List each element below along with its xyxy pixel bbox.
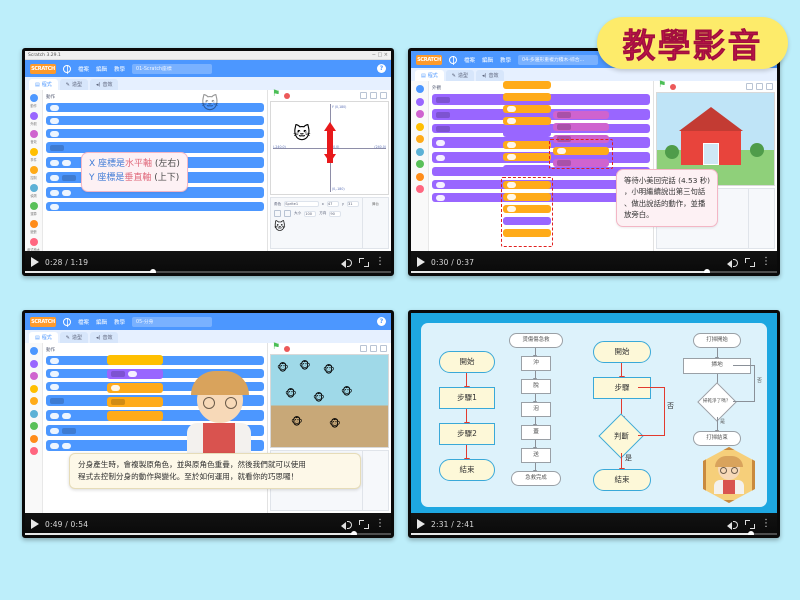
tab-sounds-2[interactable]: ◂) 音效 <box>476 70 504 81</box>
globe-icon-3[interactable] <box>63 318 71 326</box>
fc4-decision-label: 掃乾淨了嗎？ <box>703 400 731 405</box>
editor-body-2: 外觀 <box>411 81 777 251</box>
palette-item-events[interactable]: 事件 <box>25 148 42 162</box>
sprite-dir-label: 方向 <box>319 211 326 216</box>
stop-icon-2[interactable] <box>670 84 676 90</box>
tab-costumes-3[interactable]: ✎ 造型 <box>60 332 88 343</box>
narration-callout: 等待小美回完話 (4.53 秒) ，小明繼續說出第三句話 、做出說話的動作，並播… <box>616 169 718 227</box>
stage-canvas-3[interactable]: 🐵 🐵 🐵 🐵 🐵 🐵 🐵 🐵 <box>270 354 389 448</box>
help-icon[interactable]: ? <box>377 64 386 73</box>
category-dot-variables-2 <box>416 173 424 181</box>
fc1-arrow-3 <box>466 445 467 459</box>
sprite-name-value[interactable]: Sprite1 <box>284 201 319 207</box>
large-stage-icon[interactable] <box>370 92 377 99</box>
green-flag-icon-3[interactable] <box>272 345 280 353</box>
highlight-box-upper <box>549 139 613 169</box>
category-dot-operators-3 <box>30 422 38 430</box>
hide-icon[interactable] <box>284 210 291 217</box>
menu-edit[interactable]: 編輯 <box>96 65 107 73</box>
script-stack-main[interactable] <box>503 81 551 177</box>
caption-line-2: 程式去控制分身的動作與變化。至於如何運用，就看你的巧思囉！ <box>78 471 352 483</box>
fc2-arrow-6 <box>535 463 536 471</box>
help-icon-3[interactable]: ? <box>377 317 386 326</box>
script-block-8[interactable] <box>503 165 551 173</box>
palette-item-myblocks-3[interactable] <box>25 447 42 455</box>
monkey-sprite-6: 🐵 <box>341 387 353 398</box>
progress-knob-4[interactable] <box>748 531 754 537</box>
category-dot-variables <box>30 220 38 228</box>
fullscreen-icon[interactable] <box>359 258 369 267</box>
down-arrow-icon <box>324 154 336 163</box>
scratch-toolbar-3: SCRATCH 檔案 編輯 教學 05-分身 ? <box>25 313 391 330</box>
timecode-1: 0:28 / 1:19 <box>45 258 88 267</box>
roof-shape <box>679 107 743 131</box>
progress-knob-1[interactable] <box>150 269 156 275</box>
play-button-2[interactable] <box>417 257 425 267</box>
category-dot-looks <box>30 112 38 120</box>
fc4-label-no: 否 <box>757 377 762 384</box>
sound-icon-3: ◂) <box>96 335 100 341</box>
timecode-3: 0:49 / 0:54 <box>45 520 88 529</box>
timecode-2: 0:30 / 0:37 <box>431 258 474 267</box>
fc3-decision-label: 判斷 <box>614 432 629 440</box>
fc2-node-start: 燙傷傷急救 <box>509 333 563 348</box>
avatar-vest <box>723 480 735 494</box>
palette-item-operators-2[interactable] <box>411 160 428 168</box>
monkey-sprite-7: 🐵 <box>291 417 303 428</box>
fc2-arrow-1 <box>535 348 536 356</box>
play-button[interactable] <box>31 257 39 267</box>
category-dot-myblocks-3 <box>30 447 38 455</box>
sprite-dir-value[interactable]: 90 <box>329 211 341 217</box>
script3a-looks[interactable] <box>107 369 163 379</box>
script3a-control[interactable] <box>107 383 163 393</box>
palette-label-sensing: 偵測 <box>30 193 36 198</box>
tree-right-icon <box>750 143 764 157</box>
palette-item-looks-3[interactable] <box>25 360 42 368</box>
palette-item-control-3[interactable] <box>25 397 42 405</box>
brush-icon-3: ✎ <box>66 335 70 341</box>
progress-knob-3[interactable] <box>351 531 357 537</box>
monkey-sprite-4: 🐵 <box>285 389 297 400</box>
more-options-icon-4[interactable]: ⋮ <box>761 520 771 528</box>
page-title-badge: 教學影音 <box>597 17 788 69</box>
fullscreen-icon-3[interactable] <box>380 345 387 352</box>
scratch-cat-watermark: 🐱 <box>201 94 219 114</box>
page-title-text: 教學影音 <box>623 19 763 67</box>
fc2-arrow-5 <box>535 440 536 448</box>
palette-item-motion-3[interactable] <box>25 347 42 355</box>
coord-label-origin: (0,0) <box>332 145 340 149</box>
stage-controls-3[interactable] <box>268 343 391 354</box>
more-options-icon-2[interactable]: ⋮ <box>761 258 771 266</box>
script-block-1[interactable] <box>503 81 551 89</box>
tab-costumes[interactable]: ✎ 造型 <box>60 79 88 90</box>
timecode-4: 2:31 / 2:41 <box>431 520 474 529</box>
category-dot-motion <box>30 94 38 102</box>
fc4-arrow-1 <box>717 348 718 358</box>
show-icon[interactable] <box>274 210 281 217</box>
category-dot-sensing-2 <box>416 148 424 156</box>
progress-fill-3 <box>25 533 354 536</box>
category-dot-events <box>30 148 38 156</box>
editor-tabs-3: ▤ 程式 ✎ 造型 ◂) 音效 <box>25 330 391 343</box>
scratch-logo-2[interactable]: SCRATCH <box>416 55 442 65</box>
video-panel-1[interactable]: Scratch 3.29.1 − □ × SCRATCH 檔案 編輯 教學 01… <box>22 48 394 276</box>
monkey-backdrop: 🐵 🐵 🐵 🐵 🐵 🐵 🐵 🐵 <box>271 355 388 447</box>
callout-2-line-1: 等待小美回完話 (4.53 秒) <box>624 175 710 186</box>
category-dot-looks-3 <box>30 360 38 368</box>
sprite-y-label: y <box>342 202 344 206</box>
palette-label-operators: 運算 <box>30 211 36 216</box>
fc3-loop-path <box>638 387 665 436</box>
fc2-arrow-2 <box>535 371 536 379</box>
sprite-name-row[interactable]: 角色 Sprite1 x 47 y 31 <box>274 201 359 207</box>
globe-icon[interactable] <box>63 65 71 73</box>
category-dot-myblocks-2 <box>416 185 424 193</box>
code-icon: ▤ <box>35 82 40 88</box>
palette-item-variables-3[interactable] <box>25 435 42 443</box>
script-block-7[interactable] <box>503 153 551 161</box>
brush-icon-2: ✎ <box>452 73 456 79</box>
stage-selector-label: 舞台 <box>372 202 379 206</box>
fc4-arrow-yes <box>717 417 718 431</box>
editor-tabs: ▤ 程式 ✎ 造型 ◂) 音效 <box>25 77 391 90</box>
menu-edit-3[interactable]: 編輯 <box>96 318 107 326</box>
fc2-node-5: 送 <box>521 448 551 463</box>
script3a-hat[interactable] <box>107 355 163 365</box>
fc2-node-2: 脫 <box>521 379 551 394</box>
scratch-toolbar: SCRATCH 檔案 編輯 教學 01-Scratch座標 ? <box>25 60 391 77</box>
block-category-palette-2[interactable] <box>411 81 429 251</box>
progress-bar-2[interactable] <box>411 271 777 274</box>
palette-label-motion: 動作 <box>30 103 36 108</box>
tab-code[interactable]: ▤ 程式 <box>29 79 58 90</box>
tab-sounds-3[interactable]: ◂) 音效 <box>90 332 118 343</box>
tab-costumes-label: 造型 <box>72 81 82 88</box>
play-button-3[interactable] <box>31 519 39 529</box>
sprite-y-value[interactable]: 31 <box>347 201 359 207</box>
menu-file[interactable]: 檔案 <box>78 65 89 73</box>
player-controls-1[interactable]: 0:28 / 1:19 ⋮ <box>25 251 391 273</box>
category-dot-events-2 <box>416 123 424 131</box>
window-buttons[interactable]: − □ × <box>372 52 388 58</box>
callout-2-line-4: 放旁白。 <box>624 209 710 220</box>
avatar-figure <box>712 456 746 494</box>
scratch-logo[interactable]: SCRATCH <box>30 64 56 74</box>
fc4-node-decision: 掃乾淨了嗎？ <box>697 382 737 422</box>
category-dot-control <box>30 166 38 174</box>
category-dot-motion-3 <box>30 347 38 355</box>
block-category-palette[interactable]: 動作 外觀 音效 事件 控制 <box>25 90 43 251</box>
code-icon-3: ▤ <box>35 335 40 341</box>
monkey-sprite-1: 🐵 <box>277 363 289 374</box>
palette-item-motion-2[interactable] <box>411 85 428 93</box>
category-dot-sensing <box>30 184 38 192</box>
palette-item-control-2[interactable] <box>411 135 428 143</box>
menu-edit-2[interactable]: 編輯 <box>482 56 493 64</box>
palette-item-sensing-2[interactable] <box>411 148 428 156</box>
brush-icon: ✎ <box>66 82 70 88</box>
project-name-input[interactable]: 01-Scratch座標 <box>132 64 212 74</box>
block-turn-right[interactable] <box>46 116 264 125</box>
block-move[interactable] <box>46 103 264 112</box>
video-panel-4[interactable]: 開始 步驟1 步驟2 結束 燙傷傷急救 沖 脫 泡 蓋 送 <box>408 310 780 538</box>
avatar-hair <box>715 456 743 467</box>
category-dot-myblocks <box>30 238 38 246</box>
tab-code-2[interactable]: ▤ 程式 <box>415 70 444 81</box>
flowchart-slide: 開始 步驟1 步驟2 結束 燙傷傷急救 沖 脫 泡 蓋 送 <box>411 313 777 513</box>
more-options-icon-3[interactable]: ⋮ <box>375 520 385 528</box>
volume-icon-2[interactable] <box>727 257 739 267</box>
category-dot-variables-3 <box>30 435 38 443</box>
palette-item-events-3[interactable] <box>25 385 42 393</box>
palette-item-events-2[interactable] <box>411 123 428 131</box>
code-icon-2: ▤ <box>421 73 426 79</box>
fc1-arrow-2 <box>466 409 467 423</box>
tab-sounds-label-2: 音效 <box>488 72 498 79</box>
coordinate-callout: X 座標是水平軸 (左右) Y 座標是垂直軸 (上下) <box>81 152 188 192</box>
palette-item-sensing[interactable]: 偵測 <box>25 184 42 198</box>
panel-2-screen: SCRATCH 檔案 編輯 教學 04-多邊形重複力積木-綜合... ? ▤ 程… <box>411 51 777 251</box>
fc4-label-yes: 是 <box>720 418 725 425</box>
sprite-x-value[interactable]: 47 <box>327 201 339 207</box>
player-controls-2[interactable]: 0:30 / 0:37 ⋮ <box>411 251 777 273</box>
sprite-size-label: 大小 <box>294 211 301 216</box>
player-controls-4[interactable]: 2:31 / 2:41 ⋮ <box>411 513 777 535</box>
globe-icon-2[interactable] <box>449 56 457 64</box>
stage-controls-2[interactable] <box>654 81 777 92</box>
volume-icon[interactable] <box>341 257 353 267</box>
sprite-x-label: x <box>322 202 324 206</box>
palette-item-sensing-3[interactable] <box>25 410 42 418</box>
tab-costumes-label-3: 造型 <box>72 334 82 341</box>
fc3-arrow-yes <box>621 453 622 469</box>
fc3-arrow-1 <box>621 363 622 377</box>
avatar-glasses-right <box>731 467 738 474</box>
fc3-label-yes: 是 <box>625 453 632 463</box>
flowchart-board: 開始 步驟1 步驟2 結束 燙傷傷急救 沖 脫 泡 蓋 送 <box>421 323 767 507</box>
fc2-node-end: 急救完成 <box>511 471 561 486</box>
panel-1-screen: Scratch 3.29.1 − □ × SCRATCH 檔案 編輯 教學 01… <box>25 51 391 251</box>
script-stack-3[interactable] <box>107 355 163 425</box>
palette-item-myblocks-2[interactable] <box>411 185 428 193</box>
palette-item-operators[interactable]: 運算 <box>25 202 42 216</box>
category-dot-sound <box>30 130 38 138</box>
script-block-3[interactable] <box>503 105 551 113</box>
palette-item-sound-3[interactable] <box>25 372 42 380</box>
sound-icon-2: ◂) <box>482 73 486 79</box>
palette-label-looks: 外觀 <box>30 121 36 126</box>
palette-label-variables: 變數 <box>30 229 36 234</box>
fc1-arrow-1 <box>466 373 467 387</box>
teacher-glasses-left <box>203 397 215 409</box>
stage-canvas[interactable]: Y (0,180) (-240,0) (0,0) (240,0) (0,-180… <box>270 101 389 195</box>
fc3-node-decision: 判斷 <box>598 413 643 458</box>
large-stage-icon-2[interactable] <box>756 83 763 90</box>
panel-3-screen: SCRATCH 檔案 編輯 教學 05-分身 ? ▤ 程式 ✎ 造型 ◂) 音效 <box>25 313 391 513</box>
stage-controls[interactable] <box>268 90 391 101</box>
callout-2-line-3: 、做出說話的動作，並播 <box>624 198 710 209</box>
sprite-info: 角色 Sprite1 x 47 y 31 大小 100 方向 <box>271 198 362 248</box>
category-dot-operators-2 <box>416 160 424 168</box>
teacher-glasses-right <box>225 397 237 409</box>
palette-item-looks[interactable]: 外觀 <box>25 112 42 126</box>
script2-block-1[interactable] <box>553 111 609 119</box>
tab-code-3[interactable]: ▤ 程式 <box>29 332 58 343</box>
category-dot-looks-2 <box>416 98 424 106</box>
progress-bar-3[interactable] <box>25 533 391 536</box>
teacher-hair <box>191 371 249 395</box>
sound-icon: ◂) <box>96 82 100 88</box>
fullscreen-icon[interactable] <box>380 92 387 99</box>
palette-item-sound[interactable]: 音效 <box>25 130 42 144</box>
tab-sounds-label-3: 音效 <box>102 334 112 341</box>
coord-label-bottom: (0,-180) <box>332 187 345 191</box>
category-dot-motion-2 <box>416 85 424 93</box>
door-shape <box>703 143 719 165</box>
fc4-node-end: 打掃結束 <box>693 431 741 446</box>
fc1-node-step2: 步驟2 <box>439 423 495 445</box>
palette-label-control: 控制 <box>30 175 36 180</box>
tab-code-label-3: 程式 <box>42 334 52 341</box>
play-button-4[interactable] <box>417 519 425 529</box>
stage-selector-3[interactable] <box>362 451 388 510</box>
category-dot-control-2 <box>416 135 424 143</box>
fc2-node-4: 蓋 <box>521 425 551 440</box>
script-block-6[interactable] <box>503 141 551 149</box>
fc1-node-end: 結束 <box>439 459 495 481</box>
stop-icon-3[interactable] <box>284 346 290 352</box>
palette-item-motion[interactable]: 動作 <box>25 94 42 108</box>
menu-file-3[interactable]: 檔案 <box>78 318 89 326</box>
menu-file-2[interactable]: 檔案 <box>464 56 475 64</box>
stage-selector[interactable]: 舞台 <box>362 198 388 248</box>
category-dot-sensing-3 <box>30 410 38 418</box>
palette-item-myblocks[interactable]: 函式積木 <box>25 238 42 251</box>
fc2-arrow-3 <box>535 394 536 402</box>
block-turn-left[interactable] <box>46 129 264 138</box>
video-panel-2[interactable]: SCRATCH 檔案 編輯 教學 04-多邊形重複力積木-綜合... ? ▤ 程… <box>408 48 780 276</box>
coord-label-right: (240,0) <box>374 145 386 149</box>
stop-icon[interactable] <box>284 93 290 99</box>
video-panel-3[interactable]: SCRATCH 檔案 編輯 教學 05-分身 ? ▤ 程式 ✎ 造型 ◂) 音效 <box>22 310 394 538</box>
editor-body: 動作 外觀 音效 事件 控制 <box>25 90 391 251</box>
category-dot-events-3 <box>30 385 38 393</box>
palette-item-variables-2[interactable] <box>411 173 428 181</box>
sprite-size-value[interactable]: 100 <box>304 211 316 217</box>
fullscreen-icon-2[interactable] <box>766 83 773 90</box>
script-block-5[interactable] <box>503 129 551 137</box>
palette-item-sound-2[interactable] <box>411 110 428 118</box>
tab-code-label: 程式 <box>42 81 52 88</box>
callout-line-y: Y 座標是垂直軸 (上下) <box>89 172 180 186</box>
category-dot-sound-2 <box>416 110 424 118</box>
monkey-sprite-2: 🐵 <box>299 361 311 372</box>
window-titlebar: Scratch 3.29.1 − □ × <box>25 51 391 60</box>
highlight-box-lower <box>501 177 553 247</box>
large-stage-icon-3[interactable] <box>370 345 377 352</box>
project-name-input-2[interactable]: 04-多邊形重複力積木-綜合... <box>518 55 598 65</box>
menu-tutorials[interactable]: 教學 <box>114 65 125 73</box>
progress-bar-4[interactable] <box>411 533 777 536</box>
fc4-loop-path <box>733 365 755 402</box>
fc1-node-start: 開始 <box>439 351 495 373</box>
palette-item-control[interactable]: 控制 <box>25 166 42 180</box>
avatar-glasses-left <box>720 467 727 474</box>
tab-costumes-2[interactable]: ✎ 造型 <box>446 70 474 81</box>
narration-caption: 分身產生時，會複製原角色，並與原角色重疊，然後我們就可以使用 程式去控制分身的動… <box>69 453 361 489</box>
script3a-end[interactable] <box>107 411 163 421</box>
more-options-icon[interactable]: ⋮ <box>375 258 385 266</box>
block-category-heading-3: 動作 <box>46 347 264 353</box>
volume-icon-4[interactable] <box>727 519 739 529</box>
volume-icon-3[interactable] <box>341 519 353 529</box>
progress-fill-2 <box>411 271 707 274</box>
palette-item-operators-3[interactable] <box>25 422 42 430</box>
teacher-character <box>173 373 265 513</box>
panel-4-screen: 開始 步驟1 步驟2 結束 燙傷傷急救 沖 脫 泡 蓋 送 <box>411 313 777 513</box>
script-block-2[interactable] <box>503 93 551 101</box>
fullscreen-icon-player-4[interactable] <box>745 520 755 529</box>
coord-label-left: (-240,0) <box>273 145 286 149</box>
small-stage-icon[interactable] <box>360 92 367 99</box>
stage-selector-2[interactable] <box>748 189 774 248</box>
script3a-control2[interactable] <box>107 397 163 407</box>
script-block-4[interactable] <box>503 117 551 125</box>
block-category-palette-3[interactable] <box>25 343 43 513</box>
tab-sounds[interactable]: ◂) 音效 <box>90 79 118 90</box>
fullscreen-icon-player-2[interactable] <box>745 258 755 267</box>
small-stage-icon-3[interactable] <box>360 345 367 352</box>
category-dot-operators <box>30 202 38 210</box>
progress-knob-2[interactable] <box>704 269 710 275</box>
fc3-node-end: 結束 <box>593 469 651 491</box>
tab-costumes-label-2: 造型 <box>458 72 468 79</box>
block-point-direction[interactable] <box>46 202 264 211</box>
menu-tutorials-3[interactable]: 教學 <box>114 318 125 326</box>
tab-sounds-label: 音效 <box>102 81 112 88</box>
window-title: Scratch 3.29.1 <box>28 53 61 58</box>
fc2-node-3: 泡 <box>521 402 551 417</box>
tree-left-icon <box>665 145 679 159</box>
progress-bar-1[interactable] <box>25 271 391 274</box>
menu-tutorials-2[interactable]: 教學 <box>500 56 511 64</box>
fullscreen-icon-player-3[interactable] <box>359 520 369 529</box>
project-name-input-3[interactable]: 05-分身 <box>132 317 212 327</box>
sprite-thumbnail[interactable]: 🐱 <box>274 220 285 233</box>
script2-block-2[interactable] <box>553 123 609 131</box>
sprite-cat[interactable]: 🐱 <box>293 124 311 144</box>
sprite-size-row[interactable]: 大小 100 方向 90 <box>274 210 359 217</box>
block-palette-list[interactable]: 動作 🐱 X 座標是水平軸 (左右) Y 座標是垂直軸 (上下) <box>43 90 267 251</box>
palette-item-looks-2[interactable] <box>411 98 428 106</box>
small-stage-icon-2[interactable] <box>746 83 753 90</box>
palette-label-events: 事件 <box>30 157 36 162</box>
callout-line-x: X 座標是水平軸 (左右) <box>89 158 180 172</box>
green-flag-icon[interactable] <box>272 92 280 100</box>
palette-item-variables[interactable]: 變數 <box>25 220 42 234</box>
block-category-heading: 動作 <box>46 94 264 100</box>
tab-code-label-2: 程式 <box>428 72 438 79</box>
sprite-panel: 角色 Sprite1 x 47 y 31 大小 100 方向 <box>270 197 389 249</box>
caption-line-1: 分身產生時，會複製原角色，並與原角色重疊，然後我們就可以使用 <box>78 459 352 471</box>
green-flag-icon-2[interactable] <box>658 83 666 91</box>
player-controls-3[interactable]: 0:49 / 0:54 ⋮ <box>25 513 391 535</box>
scratch-logo-3[interactable]: SCRATCH <box>30 317 56 327</box>
stage-area: Y (0,180) (-240,0) (0,0) (240,0) (0,-180… <box>267 90 391 251</box>
fc3-label-no: 否 <box>667 401 674 411</box>
